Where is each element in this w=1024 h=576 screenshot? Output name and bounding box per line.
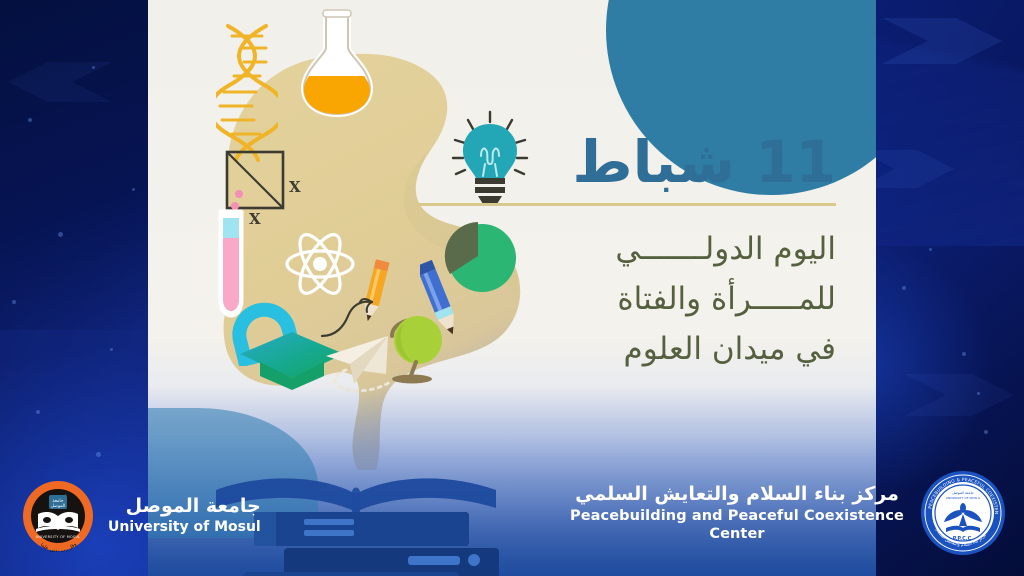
background-dark-wedge-left [0,0,170,330]
title-divider [416,203,836,206]
poster-canvas: X X [0,0,1024,576]
dna-helix-icon [216,22,278,162]
background-dot [132,188,135,191]
background-dot [12,300,16,304]
headline-block: 11 شباط اليوم الدولـــــــي للمـــــرأة … [416,132,836,375]
background-dot [962,352,966,356]
university-branding: جامعة الموصل UNIVERSITY OF MOSUL وقل رب … [22,480,261,552]
svg-text:X: X [249,210,261,226]
svg-text:X: X [289,178,301,196]
svg-text:الموصل: الموصل [51,504,66,509]
background-dot [110,348,113,351]
svg-text:UNIVERSITY OF MOSUL: UNIVERSITY OF MOSUL [946,496,981,500]
background-dot [902,286,906,290]
subtitle-line-1: اليوم الدولـــــــي [416,224,836,274]
svg-text:UNIVERSITY OF MOSUL: UNIVERSITY OF MOSUL [36,535,81,539]
page-title: 11 شباط [416,132,836,193]
university-of-mosul-seal: جامعة الموصل UNIVERSITY OF MOSUL وقل رب … [22,480,94,552]
university-name-ar: جامعة الموصل [108,495,261,519]
center-name-en-line2: Center [570,525,904,543]
atom-icon [284,228,356,300]
background-dot [58,232,63,237]
sprout-squiggle-icon [320,296,376,340]
center-name-ar: مركز بناء السلام والتعايش السلمي [570,483,904,507]
center-name-en-line1: Peacebuilding and Peaceful Coexistence [570,507,904,525]
background-dot [96,452,101,457]
university-name-block: جامعة الموصل University of Mosul [108,495,261,536]
subtitle-line-2: للمـــــرأة والفتاة [416,274,836,324]
background-dot [977,392,980,395]
flask-icon [296,8,378,118]
background-dot [929,248,932,251]
subtitle-line-3: في ميدان العلوم [416,324,836,374]
center-branding: مركز بناء السلام والتعايش السلمي Peacebu… [570,470,1006,556]
university-name-en: University of Mosul [108,519,261,537]
background-dot [36,410,40,414]
ppcc-seal: PEACEBUILDING & PEACEFUL COEXISTENCE CEN… [920,470,1006,556]
svg-text:جامعة الموصل: جامعة الموصل [952,491,974,495]
center-name-block: مركز بناء السلام والتعايش السلمي Peacebu… [570,483,904,543]
background-dot [984,430,988,434]
background-dot [28,118,32,122]
background-dot [92,66,95,69]
